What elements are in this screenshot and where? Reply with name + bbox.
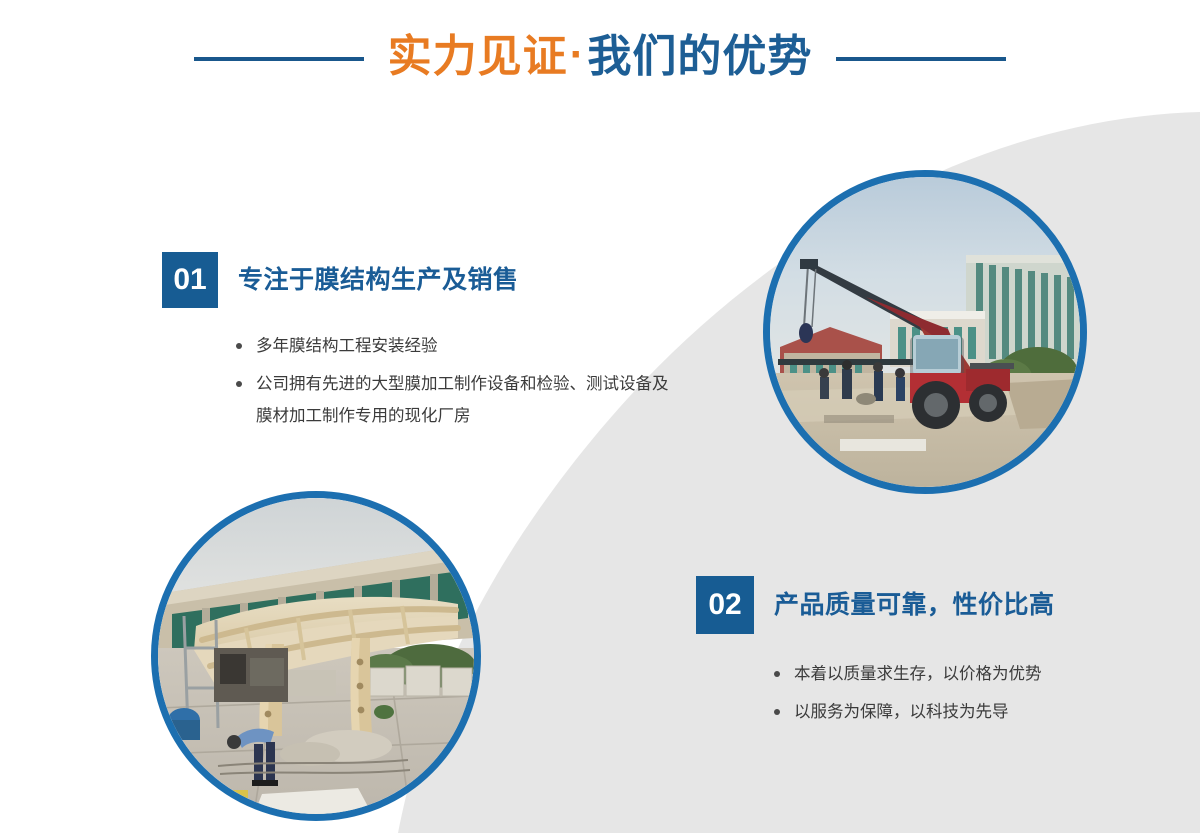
- advantage-block-02-title: 产品质量可靠，性价比高: [774, 593, 1055, 618]
- bullet-dot-icon: [774, 671, 780, 677]
- photo-crane-installation-inner: [770, 177, 1080, 487]
- page-title-blue: 我们的优势: [587, 35, 812, 79]
- page-title-orange: 实力见证: [388, 35, 568, 79]
- list-item-label: 多年膜结构工程安装经验: [256, 330, 438, 362]
- page-header: 实力见证 · 我们的优势: [0, 0, 1200, 118]
- advantage-block-01: 01 专注于膜结构生产及销售 多年膜结构工程安装经验 公司拥有先进的大型膜加工制…: [162, 252, 682, 438]
- page-title: 实力见证 · 我们的优势: [388, 35, 813, 83]
- photo-membrane-canopy-inner: [158, 498, 474, 814]
- list-item-label: 公司拥有先进的大型膜加工制作设备和检验、测试设备及膜材加工制作专用的现化厂房: [256, 368, 676, 432]
- badge-number-02: 02: [696, 576, 754, 634]
- list-item: 公司拥有先进的大型膜加工制作设备和检验、测试设备及膜材加工制作专用的现化厂房: [236, 368, 682, 432]
- advantage-block-02: 02 产品质量可靠，性价比高 本着以质量求生存，以价格为优势 以服务为保障，以科…: [696, 576, 1126, 734]
- left-rule-icon: [194, 57, 364, 61]
- advantage-block-02-head: 02 产品质量可靠，性价比高: [696, 576, 1126, 634]
- title-separator-dot-icon: ·: [568, 33, 588, 77]
- list-item: 本着以质量求生存，以价格为优势: [774, 658, 1126, 690]
- advantage-block-01-bullets: 多年膜结构工程安装经验 公司拥有先进的大型膜加工制作设备和检验、测试设备及膜材加…: [236, 330, 682, 432]
- advantage-block-02-bullets: 本着以质量求生存，以价格为优势 以服务为保障，以科技为先导: [774, 658, 1126, 728]
- right-rule-icon: [836, 57, 1006, 61]
- photo-crane-installation: [763, 170, 1087, 494]
- bullet-dot-icon: [236, 343, 242, 349]
- badge-number-01: 01: [162, 252, 218, 308]
- advantage-block-01-title: 专注于膜结构生产及销售: [238, 268, 519, 293]
- bullet-dot-icon: [774, 709, 780, 715]
- bullet-dot-icon: [236, 381, 242, 387]
- list-item-label: 以服务为保障，以科技为先导: [794, 696, 1009, 728]
- list-item-label: 本着以质量求生存，以价格为优势: [794, 658, 1042, 690]
- advantage-block-01-head: 01 专注于膜结构生产及销售: [162, 252, 682, 308]
- photo-membrane-canopy: [151, 491, 481, 821]
- list-item: 多年膜结构工程安装经验: [236, 330, 682, 362]
- list-item: 以服务为保障，以科技为先导: [774, 696, 1126, 728]
- advantages-page: 实力见证 · 我们的优势 01 专注于膜结构生产及销售 多年膜结构工程安装经验 …: [0, 0, 1200, 833]
